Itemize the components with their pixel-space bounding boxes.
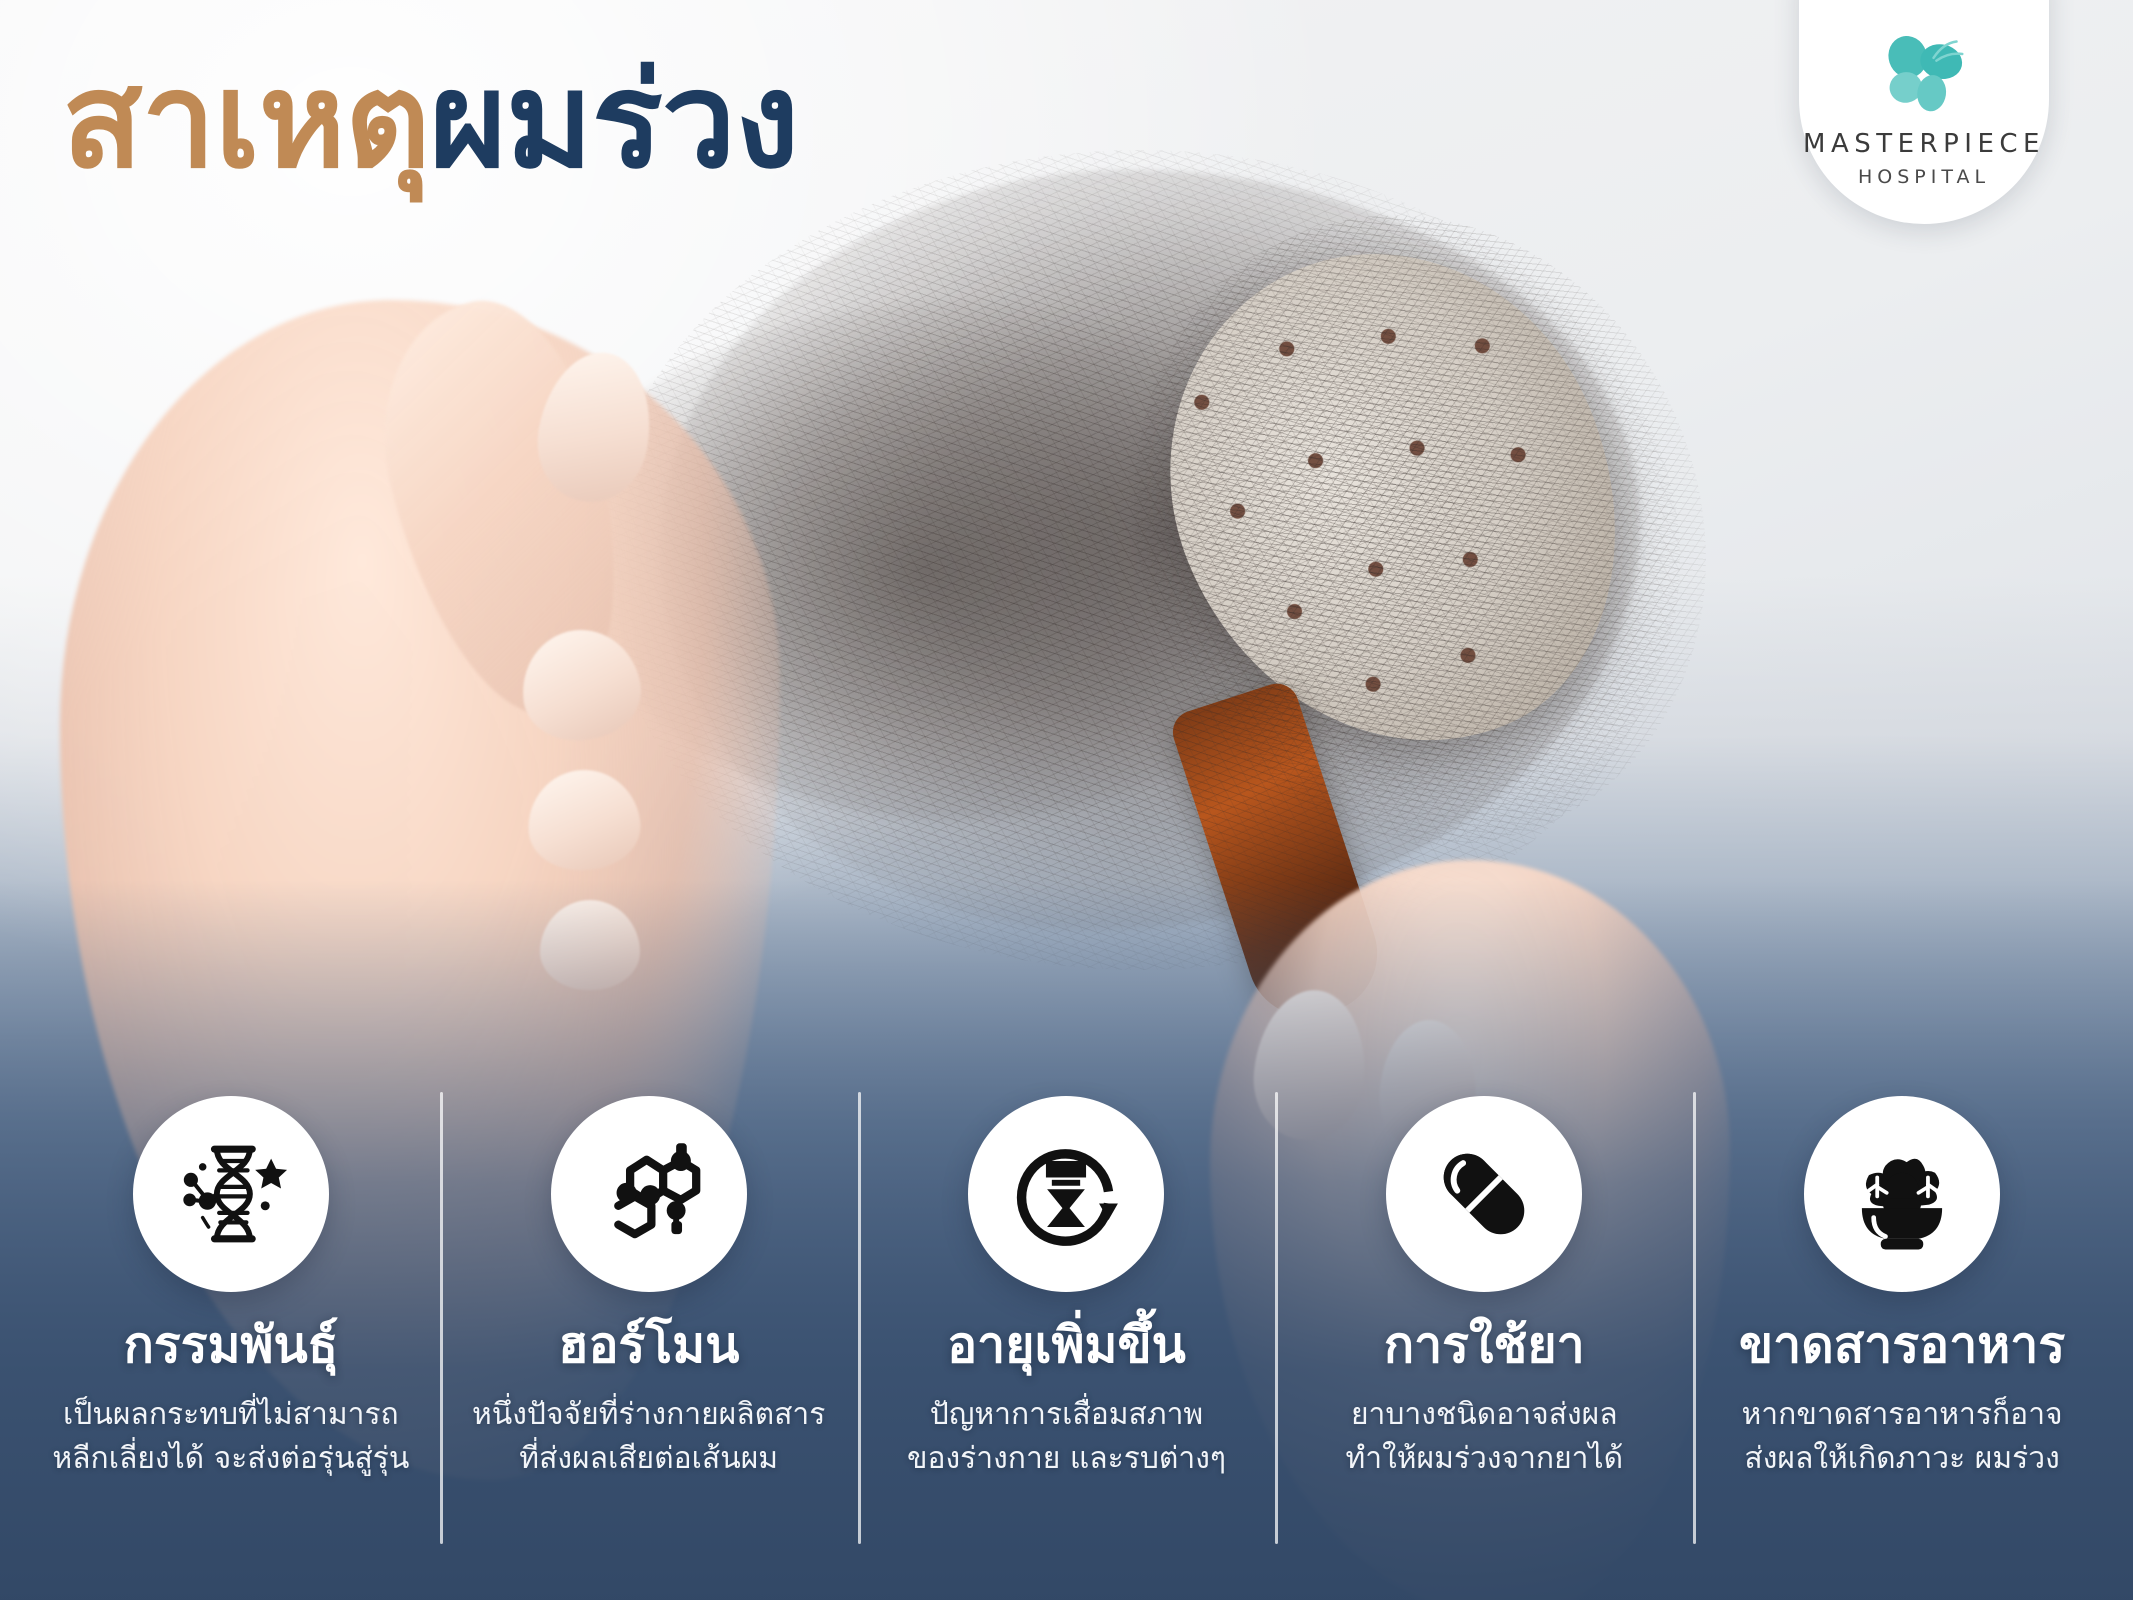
cause-card[interactable]: การใช้ยา ยาบางชนิดอาจส่งผล ทำให้ผมร่วงจา… — [1275, 1070, 1693, 1480]
cause-card-desc-line: ของร่างกาย และรบต่างๆ — [907, 1437, 1226, 1481]
cause-card-row: กรรมพันธุ์ เป็นผลกระทบที่ไม่สามารถ หลีกเ… — [0, 1070, 2133, 1600]
cause-card-title: การใช้ยา — [1384, 1318, 1585, 1373]
icon-circle — [1386, 1096, 1582, 1292]
cause-card[interactable]: อายุเพิ่มขึ้น ปัญหาการเสื่อมสภาพ ของร่าง… — [858, 1070, 1276, 1480]
salad-bowl-icon — [1843, 1135, 1961, 1253]
cause-card-desc-line: หลีกเลี่ยงได้ จะส่งต่อรุ่นสู่รุ่น — [52, 1437, 409, 1481]
cause-card-desc: หากขาดสารอาหารก็อาจ ส่งผลให้เกิดภาวะ ผมร… — [1734, 1393, 2071, 1480]
cause-card[interactable]: ฮอร์โมน หนึ่งปัจจัยที่ร่างกายผลิตสาร ที่… — [440, 1070, 858, 1480]
logo-name: MASTERPIECE — [1803, 129, 2045, 159]
icon-circle — [551, 1096, 747, 1292]
cause-card-desc-line: เป็นผลกระทบที่ไม่สามารถ — [52, 1393, 409, 1437]
cause-card[interactable]: ขาดสารอาหาร หากขาดสารอาหารก็อาจ ส่งผลให้… — [1693, 1070, 2111, 1480]
page-title-part-b: ผมร่วง — [430, 44, 799, 198]
cause-card-title: ขาดสารอาหาร — [1739, 1318, 2065, 1373]
pill-capsule-icon — [1425, 1135, 1543, 1253]
cause-card-title: ฮอร์โมน — [558, 1318, 739, 1373]
page-title-part-a: สาเหตุ — [62, 44, 430, 198]
cause-card-title: กรรมพันธุ์ — [124, 1318, 339, 1373]
icon-circle — [133, 1096, 329, 1292]
icon-circle — [1804, 1096, 2000, 1292]
cause-card[interactable]: กรรมพันธุ์ เป็นผลกระทบที่ไม่สามารถ หลีกเ… — [22, 1070, 440, 1480]
cause-card-desc: ยาบางชนิดอาจส่งผล ทำให้ผมร่วงจากยาได้ — [1337, 1393, 1631, 1480]
cause-card-desc-line: ทำให้ผมร่วงจากยาได้ — [1345, 1437, 1623, 1481]
cause-card-desc-line: ปัญหาการเสื่อมสภาพ — [907, 1393, 1226, 1437]
icon-circle — [968, 1096, 1164, 1292]
logo-subtitle: HOSPITAL — [1858, 166, 1990, 188]
page-title: สาเหตุผมร่วง — [62, 52, 798, 191]
cause-card-desc-line: ที่ส่งผลเสียต่อเส้นผม — [472, 1437, 825, 1481]
cause-card-desc-line: ส่งผลให้เกิดภาวะ ผมร่วง — [1742, 1437, 2063, 1481]
dna-helix-icon — [172, 1135, 290, 1253]
cause-card-desc-line: ยาบางชนิดอาจส่งผล — [1345, 1393, 1623, 1437]
cause-card-desc: หนึ่งปัจจัยที่ร่างกายผลิตสาร ที่ส่งผลเสี… — [464, 1393, 833, 1480]
hourglass-cycle-icon — [1007, 1135, 1125, 1253]
molecule-icon — [590, 1135, 708, 1253]
cause-card-title: อายุเพิ่มขึ้น — [947, 1318, 1186, 1373]
cause-card-desc-line: หากขาดสารอาหารก็อาจ — [1742, 1393, 2063, 1437]
butterfly-icon — [1876, 31, 1972, 119]
infographic-poster: สาเหตุผมร่วง MASTERPIECE HOSPITAL — [0, 0, 2133, 1600]
cause-card-desc: ปัญหาการเสื่อมสภาพ ของร่างกาย และรบต่างๆ — [899, 1393, 1234, 1480]
cause-card-desc-line: หนึ่งปัจจัยที่ร่างกายผลิตสาร — [472, 1393, 825, 1437]
cause-card-desc: เป็นผลกระทบที่ไม่สามารถ หลีกเลี่ยงได้ จะ… — [44, 1393, 417, 1480]
